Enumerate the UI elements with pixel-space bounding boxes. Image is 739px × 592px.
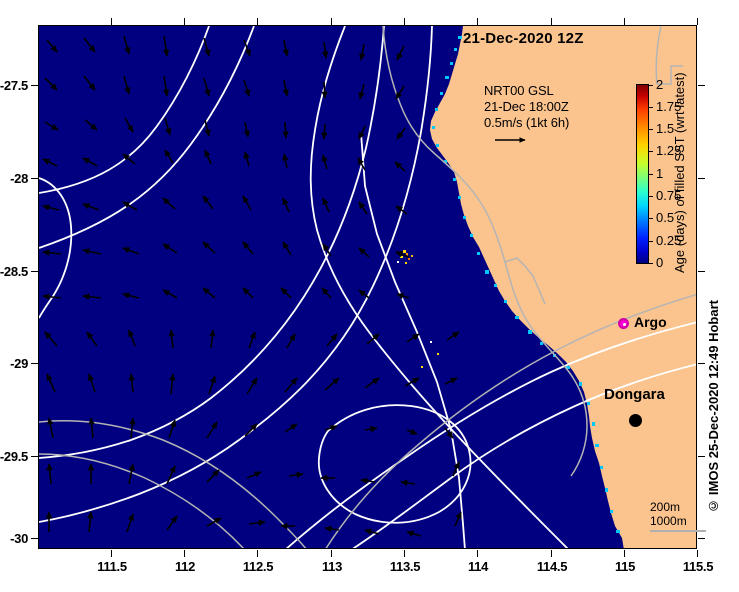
x-axis-label-5: 114 <box>448 559 508 574</box>
plot-title-date: 21-Dec-2020 12Z <box>463 30 584 47</box>
scalebar-line <box>650 530 706 532</box>
y-axis-label-0: -27.5 <box>0 78 28 93</box>
x-axis-label-1: 112 <box>155 559 215 574</box>
map-plot-area[interactable] <box>38 25 697 549</box>
y-axis-label-2: -28.5 <box>0 264 28 279</box>
colorbar-tick-8: 0 <box>656 255 663 270</box>
x-axis-label-4: 113.5 <box>375 559 435 574</box>
argo-float-marker[interactable] <box>618 318 629 329</box>
y-axis-label-1: -28 <box>0 171 28 186</box>
colorbar-title: Age (days) of filled SST (wrt latest) <box>672 78 687 273</box>
y-axis-label-5: -30 <box>0 531 28 546</box>
argo-label: Argo <box>634 314 667 330</box>
colorbar[interactable]: 2 1.75 1.5 1.25 1 0.75 0.5 0.25 0 <box>636 84 649 264</box>
y-axis-label-4: -29.5 <box>0 449 28 464</box>
annotation-valid-time: 21-Dec 18:00Z <box>484 99 569 115</box>
x-axis-label-8: 115.5 <box>668 559 728 574</box>
x-axis-label-2: 112.5 <box>228 559 288 574</box>
scalebar-200m: 200m <box>650 500 706 514</box>
scalebar-1000m: 1000m <box>650 514 706 528</box>
dongara-label: Dongara <box>604 386 665 403</box>
x-axis-label-0: 111.5 <box>82 559 142 574</box>
y-axis-label-3: -29 <box>0 356 28 371</box>
copyright-credit: © IMOS 25-Dec-2020 12:49 Hobart <box>706 300 721 514</box>
depth-scale-legend: 200m 1000m <box>650 500 706 532</box>
colorbar-tick-4: 1 <box>656 166 663 181</box>
annotation-vector-scale: 0.5m/s (1kt 6h) <box>484 115 569 131</box>
map-figure: 111.5 112 112.5 113 113.5 114 114.5 115 … <box>0 0 739 592</box>
map-canvas <box>39 26 697 549</box>
x-axis-label-7: 115 <box>595 559 655 574</box>
vector-scale-arrow-icon <box>493 134 533 146</box>
colorbar-gradient <box>636 84 649 264</box>
annotation-model: NRT00 GSL <box>484 83 569 99</box>
model-annotation: NRT00 GSL 21-Dec 18:00Z 0.5m/s (1kt 6h) <box>484 83 569 131</box>
x-axis-label-3: 113 <box>302 559 362 574</box>
dongara-marker[interactable] <box>629 414 642 427</box>
colorbar-tick-0: 2 <box>656 77 663 92</box>
aged-sst-speckle <box>397 250 439 368</box>
current-vectors <box>43 36 461 536</box>
x-axis-label-6: 114.5 <box>522 559 582 574</box>
